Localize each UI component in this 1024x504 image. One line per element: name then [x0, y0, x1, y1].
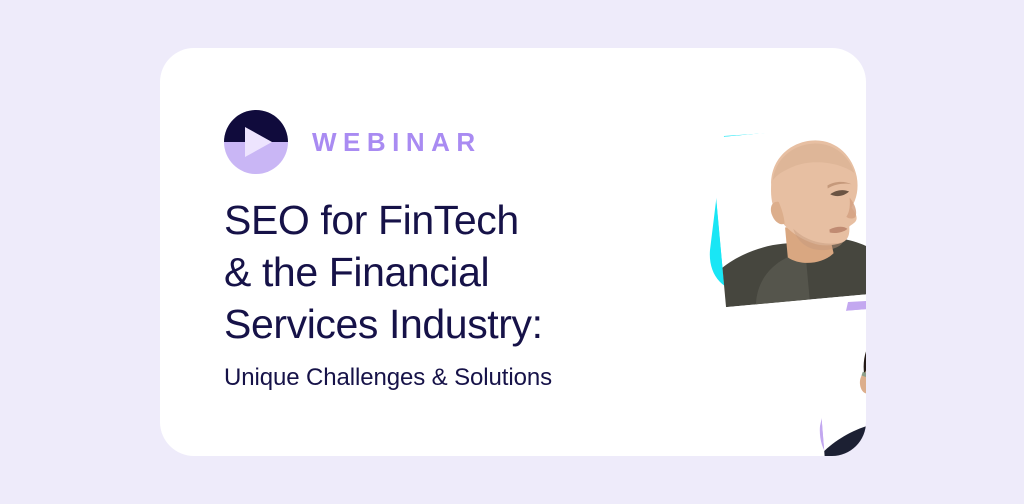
- speaker-photo-2: [814, 292, 866, 456]
- eyebrow-label: WEBINAR: [312, 129, 482, 155]
- logo-play-triangle: [245, 127, 272, 157]
- speaker-photo-1: [706, 122, 866, 302]
- slide-canvas: WEBINAR SEO for FinTech & the Financial …: [0, 0, 1024, 504]
- speaker-1-portrait-frame: [711, 123, 866, 307]
- title-line-2: & the Financial: [224, 246, 624, 298]
- eyebrow: WEBINAR: [224, 110, 624, 174]
- play-circle-logo-icon: [224, 110, 288, 174]
- title-line-1: SEO for FinTech: [224, 194, 624, 246]
- page-subtitle: Unique Challenges & Solutions: [224, 364, 624, 393]
- speaker-1-portrait: [711, 123, 866, 307]
- title-line-3: Services Industry:: [224, 298, 624, 350]
- webinar-card: WEBINAR SEO for FinTech & the Financial …: [160, 48, 866, 456]
- card-text-column: WEBINAR SEO for FinTech & the Financial …: [224, 110, 624, 393]
- page-title: SEO for FinTech & the Financial Services…: [224, 194, 624, 350]
